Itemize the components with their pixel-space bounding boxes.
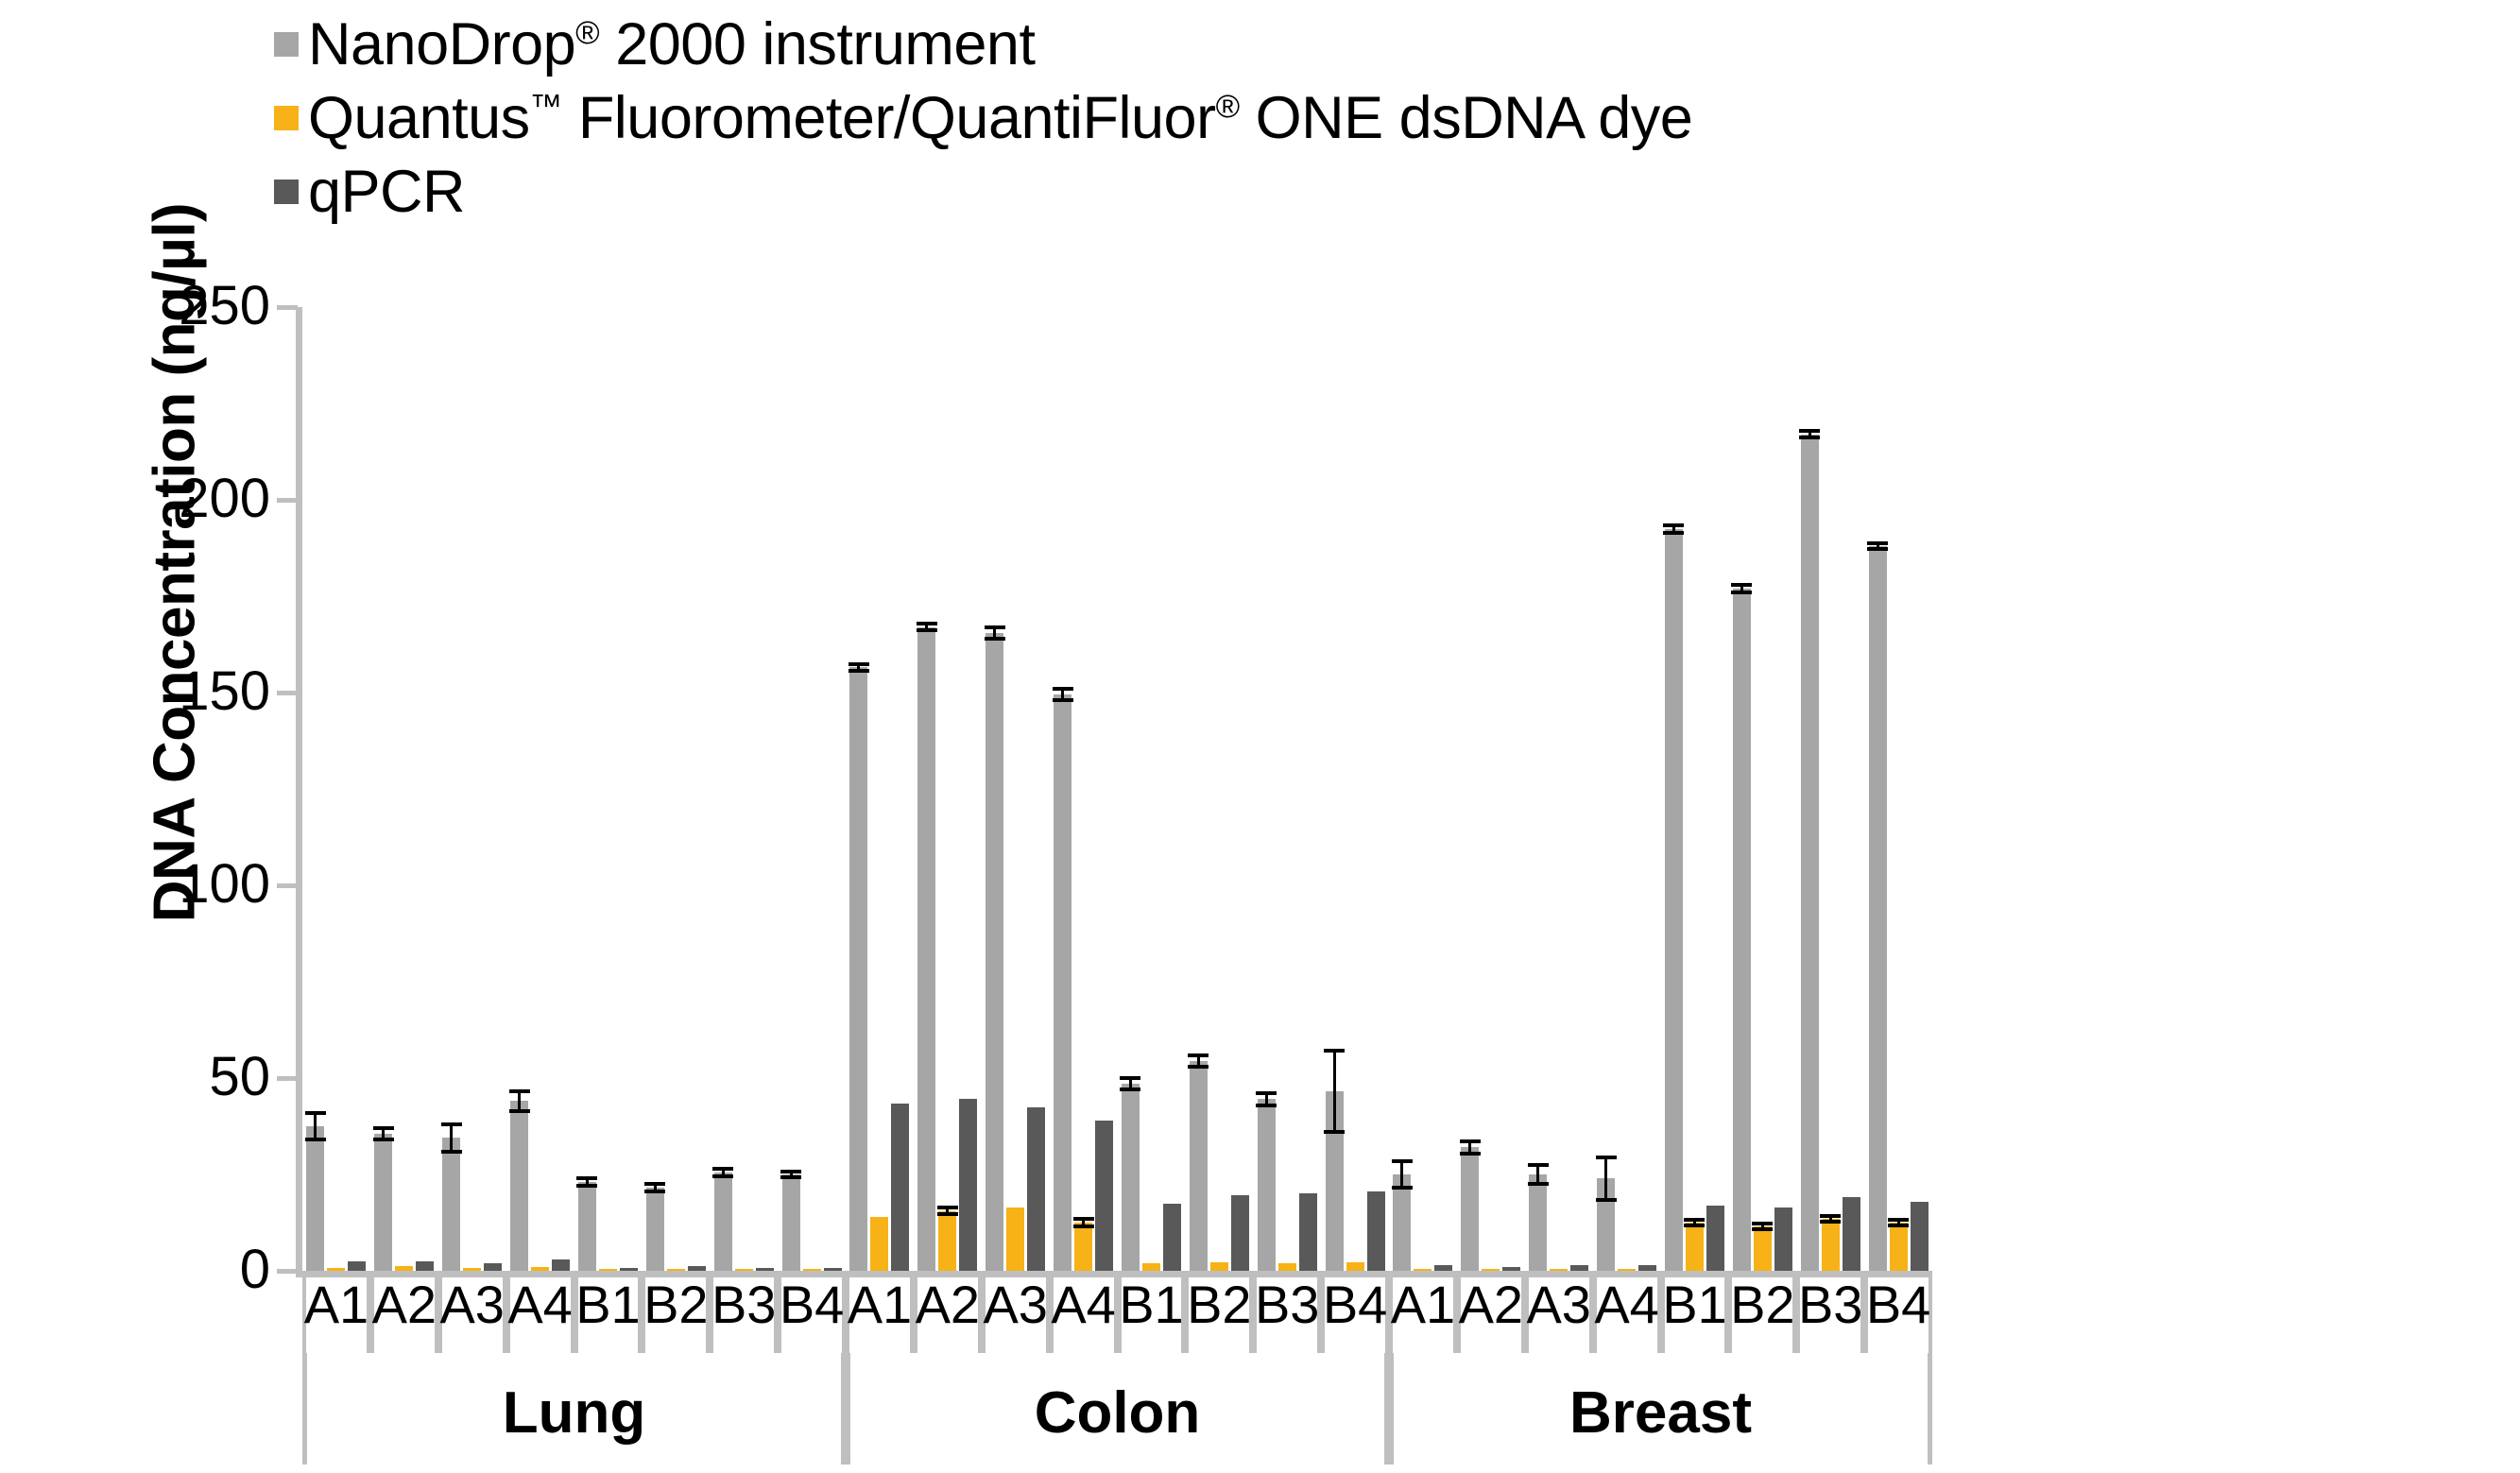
bar xyxy=(510,1101,528,1271)
x-axis-category-label: B2 xyxy=(1730,1277,1795,1332)
y-axis-tick-mark xyxy=(277,691,298,695)
x-axis-category: B2 xyxy=(642,1277,710,1353)
error-bar-cap xyxy=(509,1109,530,1113)
y-axis-tick-mark xyxy=(277,1076,298,1081)
error-bar-cap xyxy=(937,1212,958,1216)
bar xyxy=(306,1126,324,1271)
bar xyxy=(1258,1099,1276,1271)
error-bar-cap xyxy=(1188,1053,1209,1057)
x-axis-category: B4 xyxy=(1321,1277,1389,1353)
error-bar-cap xyxy=(1684,1224,1705,1227)
x-axis-category-label: B2 xyxy=(1187,1277,1252,1332)
error-bar-cap xyxy=(849,669,869,673)
error-bar-cap xyxy=(1596,1198,1617,1202)
x-axis-category-label: A2 xyxy=(916,1277,981,1332)
bar xyxy=(1665,529,1683,1271)
bar xyxy=(824,1268,842,1271)
bar xyxy=(646,1188,664,1271)
plot-area: DNA Concentration (ng/µl) 05010015020025… xyxy=(0,0,2520,1473)
bar xyxy=(395,1266,413,1271)
x-axis-category-label: A4 xyxy=(1051,1277,1116,1332)
bar xyxy=(1570,1265,1588,1271)
x-axis-category-label: A1 xyxy=(304,1277,369,1332)
bar xyxy=(1618,1269,1636,1271)
bar xyxy=(578,1182,596,1271)
y-axis-tick-label: 150 xyxy=(110,664,270,719)
bar xyxy=(374,1134,392,1271)
bar xyxy=(756,1268,774,1271)
y-axis-tick-label: 0 xyxy=(110,1242,270,1297)
bar xyxy=(531,1267,549,1271)
y-axis-line xyxy=(296,307,302,1277)
error-bar-cap xyxy=(1188,1065,1209,1069)
bar xyxy=(667,1269,685,1271)
x-axis-category-label: B1 xyxy=(1662,1277,1727,1332)
error-bar-cap xyxy=(509,1089,530,1093)
bar xyxy=(599,1269,617,1271)
x-axis-category: B2 xyxy=(1728,1277,1796,1353)
bar xyxy=(917,627,935,1271)
x-axis-category: A1 xyxy=(302,1277,370,1353)
bar xyxy=(735,1269,753,1271)
error-bar xyxy=(1400,1161,1403,1189)
error-bar-cap xyxy=(576,1184,597,1188)
x-axis-category-label: B4 xyxy=(780,1277,845,1332)
error-bar xyxy=(1333,1051,1336,1132)
error-bar-cap xyxy=(1120,1076,1140,1080)
x-axis-category-label: A2 xyxy=(372,1277,437,1332)
error-bar-cap xyxy=(712,1174,733,1178)
bar xyxy=(442,1138,460,1271)
x-axis-category-label: B3 xyxy=(1798,1277,1863,1332)
error-bar-cap xyxy=(1820,1220,1841,1224)
bar xyxy=(1122,1084,1140,1271)
x-axis-category-label: B1 xyxy=(1119,1277,1184,1332)
bar xyxy=(1686,1223,1704,1271)
error-bar-cap xyxy=(1752,1227,1773,1231)
error-bar-cap xyxy=(1731,583,1752,587)
x-axis-category: A2 xyxy=(914,1277,982,1353)
x-axis-category: A1 xyxy=(846,1277,914,1353)
x-axis-category: B1 xyxy=(1118,1277,1186,1353)
bar xyxy=(1733,589,1751,1271)
y-axis-tick-mark xyxy=(277,305,298,310)
error-bar xyxy=(450,1124,453,1152)
bar xyxy=(1095,1121,1113,1271)
bar xyxy=(1801,435,1819,1271)
x-axis-category: A1 xyxy=(1389,1277,1457,1353)
bar xyxy=(463,1268,481,1271)
error-bar-cap xyxy=(644,1182,665,1186)
bar xyxy=(348,1261,366,1271)
x-axis-category: A3 xyxy=(982,1277,1050,1353)
error-bar-cap xyxy=(441,1122,462,1126)
error-bar-cap xyxy=(1596,1156,1617,1159)
x-axis-category-label: B3 xyxy=(711,1277,777,1332)
y-axis-tick-mark xyxy=(277,883,298,888)
chart-root: NanoDrop® 2000 instrumentQuantus™ Fluoro… xyxy=(0,0,2520,1473)
error-bar-cap xyxy=(1888,1218,1909,1222)
bar xyxy=(416,1261,434,1271)
bar xyxy=(1346,1262,1364,1271)
y-axis-tick-label: 100 xyxy=(110,857,270,912)
error-bar-cap xyxy=(1867,547,1888,551)
x-axis-category-label: B3 xyxy=(1255,1277,1320,1332)
bar xyxy=(1054,694,1071,1271)
error-bar-cap xyxy=(1528,1182,1549,1186)
error-bar xyxy=(314,1113,317,1140)
error-bar-cap xyxy=(780,1175,801,1179)
error-bar-cap xyxy=(985,637,1005,641)
bar xyxy=(1529,1174,1547,1271)
x-axis-category-label: A4 xyxy=(507,1277,573,1332)
bar xyxy=(688,1266,706,1271)
x-axis-category: B4 xyxy=(778,1277,846,1353)
error-bar xyxy=(1604,1157,1607,1200)
x-axis-category: A2 xyxy=(370,1277,438,1353)
error-bar-cap xyxy=(1752,1222,1773,1225)
y-axis-tick-mark xyxy=(277,1269,298,1274)
bar xyxy=(1869,546,1887,1271)
error-bar-cap xyxy=(373,1138,394,1141)
error-bar-cap xyxy=(917,628,937,632)
error-bar-cap xyxy=(1799,436,1820,439)
bar xyxy=(1006,1208,1024,1271)
x-axis-category: A4 xyxy=(506,1277,574,1353)
x-axis-category: B1 xyxy=(1661,1277,1729,1353)
x-axis-category-label: A4 xyxy=(1594,1277,1659,1332)
bar xyxy=(484,1263,502,1271)
x-axis-category: A3 xyxy=(1525,1277,1593,1353)
error-bar-cap xyxy=(1324,1049,1345,1053)
error-bar-cap xyxy=(305,1111,326,1115)
error-bar-cap xyxy=(917,622,937,625)
bar xyxy=(1434,1265,1452,1271)
error-bar-cap xyxy=(1392,1159,1413,1163)
bar xyxy=(1461,1147,1479,1271)
bar xyxy=(986,633,1003,1271)
x-axis-category: A4 xyxy=(1593,1277,1661,1353)
x-axis-category: B2 xyxy=(1185,1277,1253,1353)
bar xyxy=(552,1259,570,1271)
error-bar-cap xyxy=(1460,1152,1481,1156)
bar xyxy=(1210,1262,1228,1271)
error-bar-cap xyxy=(985,625,1005,629)
bar xyxy=(803,1269,821,1271)
error-bar-cap xyxy=(644,1190,665,1193)
x-axis-category: B4 xyxy=(1864,1277,1932,1353)
x-axis-category-label: A3 xyxy=(439,1277,505,1332)
bar xyxy=(959,1099,977,1271)
bar xyxy=(1163,1204,1181,1271)
bar xyxy=(1027,1107,1045,1271)
y-axis-tick-label: 200 xyxy=(110,471,270,526)
error-bar-cap xyxy=(1867,541,1888,545)
error-bar-cap xyxy=(1684,1218,1705,1222)
bar xyxy=(714,1173,732,1271)
error-bar-cap xyxy=(1799,429,1820,433)
x-axis-group-label: Lung xyxy=(302,1384,846,1443)
x-axis-category-label: A1 xyxy=(848,1277,913,1332)
error-bar-cap xyxy=(1663,531,1684,535)
x-axis-category: B3 xyxy=(710,1277,778,1353)
error-bar xyxy=(1536,1165,1539,1184)
error-bar-cap xyxy=(1324,1130,1345,1134)
y-axis-tick-mark xyxy=(277,498,298,503)
bar xyxy=(1278,1263,1296,1271)
x-axis-category: A3 xyxy=(438,1277,506,1353)
error-bar-cap xyxy=(1120,1088,1140,1091)
error-bar-cap xyxy=(1731,591,1752,594)
error-bar-cap xyxy=(1820,1214,1841,1218)
x-axis-category-label: A2 xyxy=(1459,1277,1524,1332)
x-axis-category-label: A3 xyxy=(983,1277,1048,1332)
bar xyxy=(1190,1061,1208,1271)
error-bar-cap xyxy=(937,1206,958,1209)
x-axis-category: A4 xyxy=(1050,1277,1118,1353)
bar xyxy=(1706,1206,1724,1271)
x-axis-category: A2 xyxy=(1457,1277,1525,1353)
bar xyxy=(1482,1269,1500,1271)
error-bar-cap xyxy=(1073,1225,1094,1228)
bar xyxy=(1774,1208,1792,1271)
bar xyxy=(1822,1219,1840,1271)
x-axis-category-label: B4 xyxy=(1323,1277,1388,1332)
bar xyxy=(1843,1197,1860,1271)
error-bar-cap xyxy=(305,1138,326,1141)
x-axis-category-label: B2 xyxy=(643,1277,709,1332)
bar xyxy=(620,1268,638,1271)
error-bar-cap xyxy=(576,1176,597,1180)
error-bar-cap xyxy=(441,1150,462,1154)
error-bar-cap xyxy=(849,662,869,666)
x-axis-category-label: A3 xyxy=(1526,1277,1591,1332)
bar xyxy=(1638,1265,1656,1271)
error-bar-cap xyxy=(712,1167,733,1171)
bar xyxy=(891,1104,909,1271)
error-bar-cap xyxy=(1460,1139,1481,1143)
error-bar-cap xyxy=(373,1126,394,1130)
x-axis-category-label: B1 xyxy=(575,1277,641,1332)
bar xyxy=(1911,1202,1929,1271)
x-axis-category-label: A1 xyxy=(1391,1277,1456,1332)
bar xyxy=(1299,1193,1317,1271)
x-axis-category: B1 xyxy=(574,1277,643,1353)
bar xyxy=(1231,1195,1249,1271)
error-bar-cap xyxy=(1392,1186,1413,1190)
bar xyxy=(1890,1223,1908,1271)
bar xyxy=(1367,1191,1385,1271)
y-axis-tick-label: 250 xyxy=(110,279,270,334)
bar xyxy=(1074,1223,1092,1271)
error-bar-cap xyxy=(1888,1224,1909,1227)
bar xyxy=(327,1268,345,1271)
error-bar-cap xyxy=(1053,687,1073,691)
error-bar-cap xyxy=(1073,1217,1094,1221)
x-axis-category-label: B4 xyxy=(1866,1277,1931,1332)
error-bar-cap xyxy=(1528,1163,1549,1167)
bar xyxy=(849,667,867,1271)
y-axis-tick-label: 50 xyxy=(110,1050,270,1105)
error-bar-cap xyxy=(1053,698,1073,702)
error-bar-cap xyxy=(1256,1104,1277,1107)
error-bar xyxy=(518,1091,521,1110)
bar xyxy=(1502,1267,1520,1271)
bar xyxy=(1550,1269,1568,1271)
bar xyxy=(1754,1226,1772,1271)
x-axis-group-label: Breast xyxy=(1389,1384,1932,1443)
bar xyxy=(1414,1269,1431,1271)
bar xyxy=(1142,1263,1160,1271)
x-axis-group-label: Colon xyxy=(846,1384,1389,1443)
error-bar-cap xyxy=(1663,523,1684,527)
error-bar-cap xyxy=(780,1170,801,1173)
bar xyxy=(870,1217,888,1271)
x-axis-category: B3 xyxy=(1796,1277,1864,1353)
error-bar-cap xyxy=(1256,1091,1277,1095)
bar xyxy=(782,1174,800,1271)
x-axis-category: B3 xyxy=(1253,1277,1321,1353)
bar xyxy=(938,1211,956,1271)
